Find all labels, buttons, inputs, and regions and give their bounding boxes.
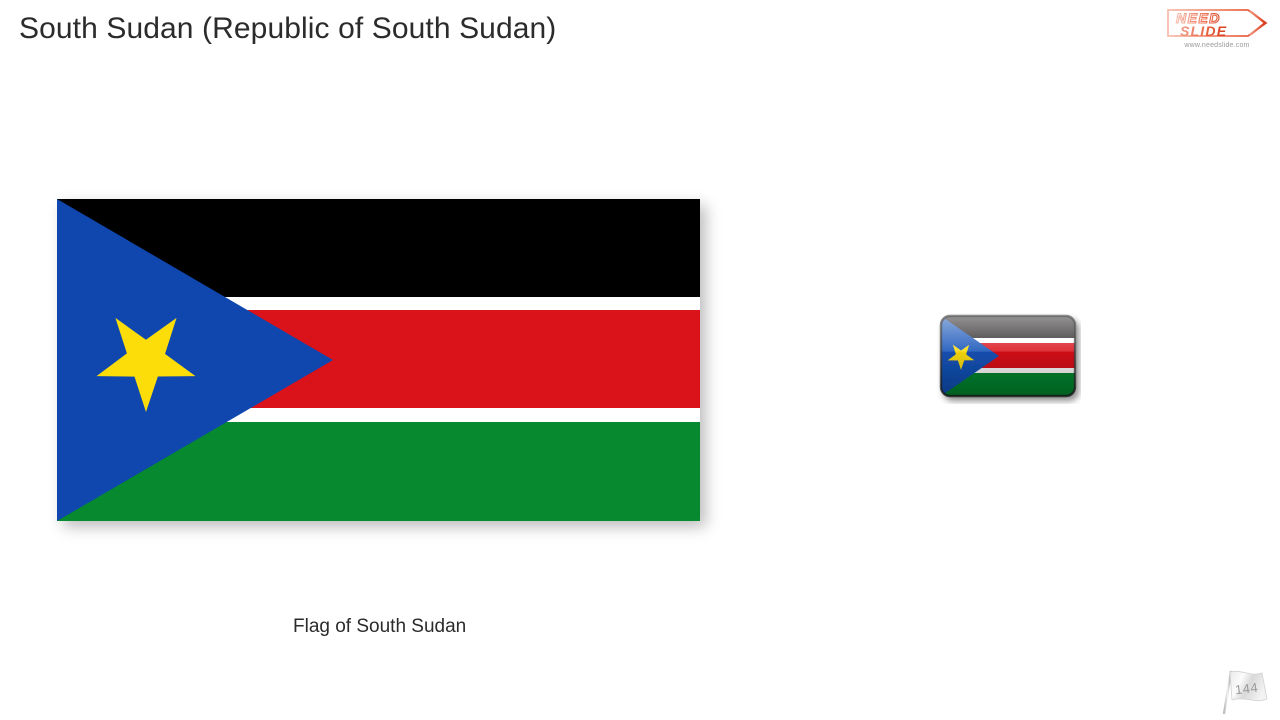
flag-caption: Flag of South Sudan [293, 616, 466, 638]
svg-text:SLIDE: SLIDE [1180, 23, 1227, 39]
flag-pole [1224, 671, 1231, 714]
flag-badge-icon [937, 313, 1081, 404]
brand-logo[interactable]: NEED SLIDE www.needslide.com [1162, 6, 1272, 58]
brand-url: www.needslide.com [1162, 42, 1272, 49]
page-number-flag-icon: 144 [1218, 668, 1276, 716]
page-title: South Sudan (Republic of South Sudan) [19, 12, 556, 46]
needslide-logo-icon: NEED SLIDE [1162, 6, 1272, 40]
main-flag-image [57, 199, 700, 521]
page-number-label: 144 [1234, 680, 1259, 698]
